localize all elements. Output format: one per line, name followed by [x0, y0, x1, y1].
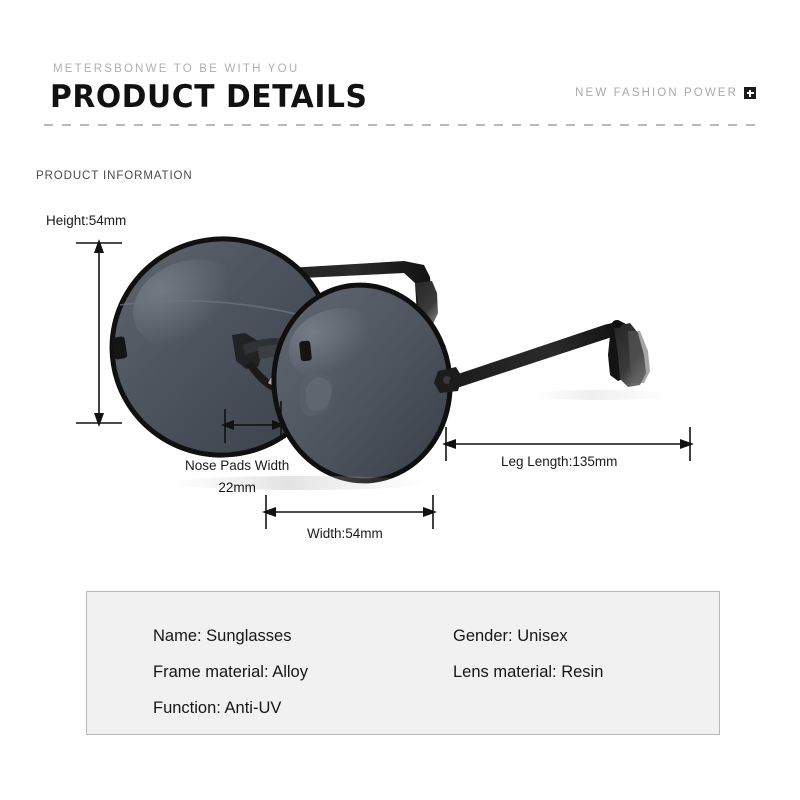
measure-label-nose-pads-width-title: Nose Pads Width: [185, 455, 289, 477]
spec-gender: Gender: Unisex: [453, 618, 719, 654]
measure-label-nose-pads-width-value: 22mm: [185, 477, 289, 499]
plus-square-icon: [744, 87, 756, 99]
measure-label-height: Height:54mm: [46, 213, 126, 228]
header-dashed-divider: [44, 124, 756, 126]
spec-function: Function: Anti-UV: [153, 690, 453, 726]
measure-width: [262, 495, 437, 529]
spec-frame-material: Frame material: Alloy: [153, 654, 453, 690]
header-tagline: NEW FASHION POWER: [575, 87, 756, 99]
spec-lens-material: Lens material: Resin: [453, 654, 719, 690]
section-label-product-information: PRODUCT INFORMATION: [36, 170, 193, 182]
page-header: METERSBONWE TO BE WITH YOU PRODUCT DETAI…: [0, 0, 800, 135]
temple-arm-near: [449, 320, 650, 387]
measure-label-nose-pads-width: Nose Pads Width 22mm: [185, 455, 289, 499]
product-spec-grid: Name: Sunglasses Gender: Unisex Frame ma…: [87, 592, 719, 734]
header-tagline-text: NEW FASHION POWER: [575, 87, 738, 99]
measure-label-leg-length: Leg Length:135mm: [501, 454, 617, 469]
spec-name: Name: Sunglasses: [153, 618, 453, 654]
product-details-page: METERSBONWE TO BE WITH YOU PRODUCT DETAI…: [0, 0, 800, 800]
page-title: PRODUCT DETAILS: [50, 79, 368, 115]
product-spec-box: Name: Sunglasses Gender: Unisex Frame ma…: [86, 591, 720, 735]
measure-label-width: Width:54mm: [307, 526, 383, 541]
header-eyebrow-text: METERSBONWE TO BE WITH YOU: [53, 63, 299, 75]
product-diagram: [0, 195, 800, 565]
